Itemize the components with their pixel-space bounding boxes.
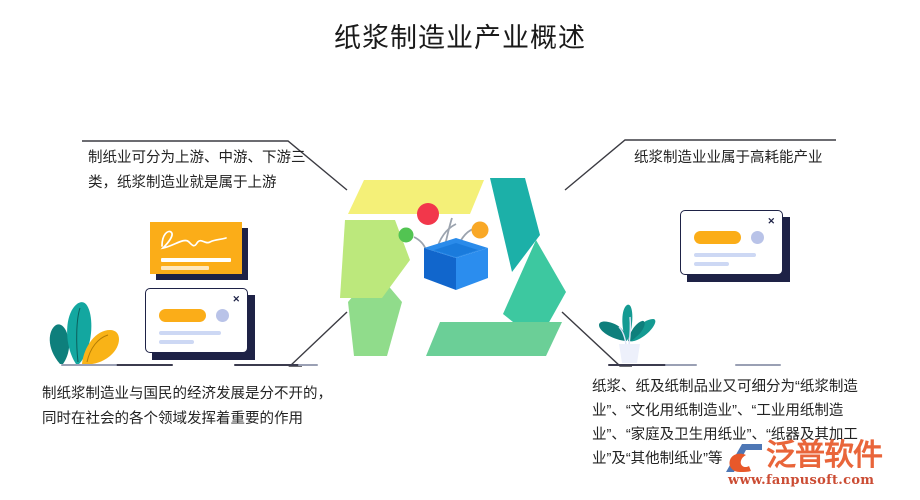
leaves-decoration xyxy=(42,292,126,368)
flower-pot xyxy=(619,344,640,363)
text-line xyxy=(161,266,209,270)
ground-line xyxy=(735,364,781,366)
avatar xyxy=(751,231,764,244)
callout-bottom-left: 制纸浆制造业与国民的经济发展是分不开的，同时在社会的各个领域发挥着重要的作用 xyxy=(42,382,332,431)
close-icon[interactable]: ✕ xyxy=(232,295,240,304)
text-line xyxy=(694,253,756,257)
dot-red xyxy=(417,203,439,225)
ground-line xyxy=(234,364,302,366)
ground-line xyxy=(608,364,668,366)
watermark-brand: 泛普软件 xyxy=(766,440,882,472)
ground-line xyxy=(61,364,117,366)
text-line xyxy=(694,262,729,266)
hexagon-diagram xyxy=(340,132,572,372)
blue-box-icon xyxy=(399,203,489,290)
dot-green xyxy=(399,228,414,243)
dialog-card: ✕ xyxy=(680,210,792,284)
segment-top xyxy=(348,180,484,214)
brand-logo-icon xyxy=(722,442,766,476)
close-icon[interactable]: ✕ xyxy=(767,217,775,226)
dot-orange xyxy=(472,222,489,239)
text-line xyxy=(161,258,231,262)
primary-button[interactable] xyxy=(159,309,206,322)
callout-top-left: 制纸业可分为上游、中游、下游三类，纸浆制造业就是属于上游 xyxy=(88,146,314,196)
text-line xyxy=(159,331,221,335)
segment-bottom xyxy=(426,322,562,356)
dialog-card: ✕ xyxy=(145,288,257,362)
potted-plant-decoration xyxy=(595,297,661,367)
avatar xyxy=(216,309,229,322)
callout-top-right: 纸浆制造业业属于高耗能产业 xyxy=(634,146,854,171)
card-face xyxy=(150,222,242,274)
text-line xyxy=(159,340,194,344)
card-face: ✕ xyxy=(145,288,248,353)
slide-canvas: 纸浆制造业产业概述 xyxy=(0,0,920,500)
card-face: ✕ xyxy=(680,210,783,275)
leaf-dark-teal xyxy=(50,324,69,364)
page-title: 纸浆制造业产业概述 xyxy=(0,22,920,56)
ground-line xyxy=(298,364,318,366)
primary-button[interactable] xyxy=(694,231,741,244)
ground-line xyxy=(665,364,697,366)
watermark: 泛普软件 www.fanpusoft.com xyxy=(722,438,912,496)
ground-line xyxy=(115,364,173,366)
watermark-url: www.fanpusoft.com xyxy=(728,474,874,488)
signature-card xyxy=(150,222,250,280)
